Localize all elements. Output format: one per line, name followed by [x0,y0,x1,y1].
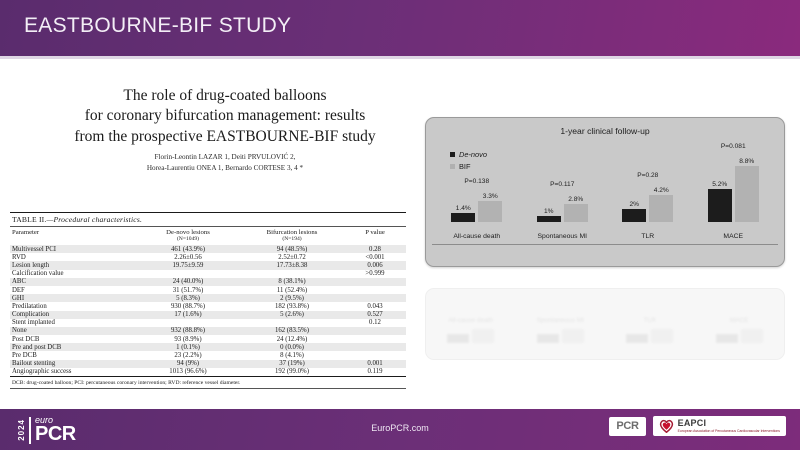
cell-denovo: 1 (0.1%) [136,343,240,351]
author-line-1: Florin-Leontin LAZAR 1, Deiti PRVULOVIĆ … [60,152,390,163]
table-header-row: Parameter De-novo lesions (N=1049) Bifur… [10,227,406,245]
col-header-denovo: De-novo lesions (N=1049) [136,227,240,245]
bar-bif: 4.2% [649,118,673,222]
header-divider [0,56,800,59]
study-title-line-3: from the prospective EASTBOURNE-BIF stud… [60,127,390,147]
cell-parameter: Pre DCB [10,351,136,359]
cell-pvalue: 0.12 [344,319,406,327]
cell-parameter: Lesion length [10,261,136,269]
faded-chart-groups: All-cause deathSpontaneous MITLRMACE [426,303,784,343]
table-row: Pre DCB23 (2.2%)8 (4.1%) [10,351,406,359]
faded-chart-group: MACE [701,317,777,343]
chart-category-label: MACE [693,233,773,240]
bar-rect [622,209,646,222]
cell-parameter: Pre and post DCB [10,343,136,351]
footer-logos: PCR EAPCI European Association of Percut… [609,416,786,436]
cell-parameter: Angiographic success [10,368,136,376]
cell-denovo: 2.26±0.56 [136,253,240,261]
faded-category-label: All-cause death [433,317,509,324]
chart-bars: 1.4%3.3% [437,118,517,222]
eapci-badge-logo: EAPCI European Association of Percutaneo… [653,416,786,436]
cell-parameter: Multivessel PCI [10,245,136,253]
faded-category-label: MACE [701,317,777,324]
cell-denovo: 5 (8.3%) [136,294,240,302]
cell-bif: 11 (52.4%) [240,286,344,294]
cell-denovo: 930 (88.7%) [136,302,240,310]
clinical-followup-chart: 1-year clinical follow-up De-novo BIF P=… [425,117,785,267]
chart-group: P=0.1171%2.8%Spontaneous MI [522,118,602,222]
table-row: Post DCB93 (8.9%)24 (12.4%) [10,335,406,343]
pcr-badge-logo: PCR [609,417,645,436]
cell-bif: 8 (4.1%) [240,351,344,359]
cell-denovo [136,319,240,327]
table-row: Calcification value>0.999 [10,270,406,278]
faded-chart-group: TLR [612,317,688,343]
table-row: None932 (88.8%)162 (83.5%) [10,327,406,335]
table-rows: Multivessel PCI461 (43.9%)94 (48.5%)0.28… [10,245,406,376]
table-caption: TABLE II.—Procedural characteristics. [10,213,406,226]
cell-bif: 162 (83.5%) [240,327,344,335]
col-header-denovo-n: (N=1049) [138,236,238,242]
cell-pvalue: 0.043 [344,302,406,310]
faded-bar-denovo [447,334,469,343]
cell-pvalue: 0.119 [344,368,406,376]
cell-denovo: 461 (43.9%) [136,245,240,253]
faded-bar-bif [562,329,584,343]
faded-bar-denovo [626,334,648,343]
cell-pvalue: 0.006 [344,261,406,269]
bar-rect [708,189,732,222]
cell-parameter: Predilatation [10,302,136,310]
cell-bif: 192 (99.0%) [240,368,344,376]
cell-denovo: 23 (2.2%) [136,351,240,359]
chart-category-label: All-cause death [437,233,517,240]
col-header-pvalue: P value [344,227,406,245]
study-title-line-2: for coronary bifurcation management: res… [60,106,390,126]
cell-bif: 182 (93.8%) [240,302,344,310]
cell-denovo: 1013 (96.6%) [136,368,240,376]
cell-denovo: 19.75±9.59 [136,261,240,269]
faded-bar-bif [741,329,763,343]
chart-group: P=0.282%4.2%TLR [608,118,688,222]
table-caption-text: —Procedural characteristics. [47,215,143,224]
bar-value-label: 1.4% [456,205,471,212]
cell-bif: 0 (0.0%) [240,343,344,351]
col-header-bif-label: Bifurcation lesions [267,229,318,236]
cell-bif: 8 (38.1%) [240,278,344,286]
table-row: Stent implanted0.12 [10,319,406,327]
bar-value-label: 2% [629,201,639,208]
author-list: Florin-Leontin LAZAR 1, Deiti PRVULOVIĆ … [60,152,390,174]
cell-denovo: 932 (88.8%) [136,327,240,335]
slide-header-bar: EASTBOURNE-BIF STUDY [0,0,800,56]
table-row: RVD2.26±0.562.52±0.72<0.001 [10,253,406,261]
bar-rect [735,166,759,222]
cell-parameter: GHI [10,294,136,302]
bar-value-label: 1% [544,208,554,215]
faded-bar-denovo [537,334,559,343]
cell-denovo: 93 (8.9%) [136,335,240,343]
table-row: GHI5 (8.3%)2 (9.5%) [10,294,406,302]
faded-chart-group: Spontaneous MI [522,317,598,343]
cell-pvalue [344,351,406,359]
bar-rect [564,204,588,222]
cell-bif: 17.73±8.38 [240,261,344,269]
bar-value-label: 4.2% [654,187,669,194]
table-row: Angiographic success1013 (96.6%)192 (99.… [10,368,406,376]
faded-duplicate-chart: All-cause deathSpontaneous MITLRMACE [425,288,785,360]
faded-bars [522,327,598,343]
bar-bif: 3.3% [478,118,502,222]
faded-bar-bif [472,329,494,343]
chart-group: P=0.1381.4%3.3%All-cause death [437,118,517,222]
chart-group: P=0.0815.2%8.8%MACE [693,118,773,222]
bar-rect [537,216,561,222]
bar-denovo: 5.2% [708,118,732,222]
chart-bars: 2%4.2% [608,118,688,222]
cell-pvalue: >0.999 [344,270,406,278]
cell-pvalue [344,278,406,286]
table-row: Bailout stenting94 (9%)37 (19%)0.001 [10,360,406,368]
bar-rect [649,195,673,222]
cell-bif: 2.52±0.72 [240,253,344,261]
cell-parameter: Post DCB [10,335,136,343]
chart-category-label: TLR [608,233,688,240]
cell-parameter: None [10,327,136,335]
bar-denovo: 1.4% [451,118,475,222]
chart-bars: 1%2.8% [522,118,602,222]
faded-bars [433,327,509,343]
cell-pvalue: <0.001 [344,253,406,261]
cell-denovo: 24 (40.0%) [136,278,240,286]
cell-parameter: Stent implanted [10,319,136,327]
cell-bif: 24 (12.4%) [240,335,344,343]
cell-bif: 5 (2.6%) [240,311,344,319]
author-line-2: Horea-Laurentiu ONEA 1, Bernardo CORTESE… [60,163,390,174]
table-row: Pre and post DCB1 (0.1%)0 (0.0%) [10,343,406,351]
faded-category-label: Spontaneous MI [522,317,598,324]
cell-bif [240,319,344,327]
chart-bars: 5.2%8.8% [693,118,773,222]
eapci-subtitle: European Association of Percutaneous Car… [678,430,780,433]
cell-pvalue [344,343,406,351]
col-header-bif-n: (N=194) [242,236,342,242]
bar-rect [451,213,475,222]
col-header-parameter: Parameter [10,227,136,245]
cell-pvalue: 0.001 [344,360,406,368]
cell-parameter: ABC [10,278,136,286]
page-title: EASTBOURNE-BIF STUDY [24,14,291,38]
cell-pvalue [344,327,406,335]
eapci-name: EAPCI [678,419,780,428]
cell-denovo: 94 (9%) [136,360,240,368]
cell-pvalue [344,335,406,343]
table-caption-label: TABLE II. [12,215,47,224]
table-row: Predilatation930 (88.7%)182 (93.8%)0.043 [10,302,406,310]
bar-value-label: 3.3% [483,193,498,200]
table-row: ABC24 (40.0%)8 (38.1%) [10,278,406,286]
chart-plot-area: P=0.1381.4%3.3%All-cause deathP=0.1171%2… [434,142,776,244]
bar-bif: 8.8% [735,118,759,222]
heart-icon [659,419,674,433]
bar-denovo: 1% [537,118,561,222]
bar-value-label: 8.8% [739,158,754,165]
cell-pvalue: 0.527 [344,311,406,319]
cell-bif: 2 (9.5%) [240,294,344,302]
cell-bif: 94 (48.5%) [240,245,344,253]
table-row: DEF31 (51.7%)11 (52.4%) [10,286,406,294]
bar-value-label: 2.8% [568,196,583,203]
cell-denovo: 31 (51.7%) [136,286,240,294]
bar-bif: 2.8% [564,118,588,222]
bar-denovo: 2% [622,118,646,222]
cell-pvalue: 0.28 [344,245,406,253]
table-row: Complication17 (1.6%)5 (2.6%)0.527 [10,311,406,319]
cell-pvalue [344,294,406,302]
chart-baseline-axis [432,244,778,245]
table-footnote: DCB: drug-coated balloon; PCI: percutane… [10,377,406,388]
col-header-bif: Bifurcation lesions (N=194) [240,227,344,245]
cell-bif: 37 (19%) [240,360,344,368]
col-header-denovo-label: De-novo lesions [166,229,210,236]
cell-bif [240,270,344,278]
faded-bar-bif [651,329,673,343]
study-title-line-1: The role of drug-coated balloons [60,86,390,106]
slide-footer-bar: 2024 euro PCR EuroPCR.com PCR EAPCI Euro… [0,409,800,450]
cell-parameter: Bailout stenting [10,360,136,368]
cell-parameter: Complication [10,311,136,319]
cell-parameter: RVD [10,253,136,261]
bar-rect [478,201,502,222]
cell-pvalue [344,286,406,294]
faded-bars [701,327,777,343]
bar-value-label: 5.2% [712,181,727,188]
procedural-characteristics-table: TABLE II.—Procedural characteristics. Pa… [10,212,406,389]
study-title: The role of drug-coated balloons for cor… [60,86,390,147]
table-row: Multivessel PCI461 (43.9%)94 (48.5%)0.28 [10,245,406,253]
faded-bars [612,327,688,343]
faded-bar-denovo [716,334,738,343]
chart-category-label: Spontaneous MI [522,233,602,240]
table-footnote-rule [10,388,406,389]
table-row: Lesion length19.75±9.5917.73±8.380.006 [10,261,406,269]
eapci-text: EAPCI European Association of Percutaneo… [678,419,780,433]
faded-category-label: TLR [612,317,688,324]
cell-parameter: Calcification value [10,270,136,278]
table-body: Parameter De-novo lesions (N=1049) Bifur… [10,227,406,376]
cell-denovo: 17 (1.6%) [136,311,240,319]
cell-parameter: DEF [10,286,136,294]
faded-chart-group: All-cause death [433,317,509,343]
cell-denovo [136,270,240,278]
